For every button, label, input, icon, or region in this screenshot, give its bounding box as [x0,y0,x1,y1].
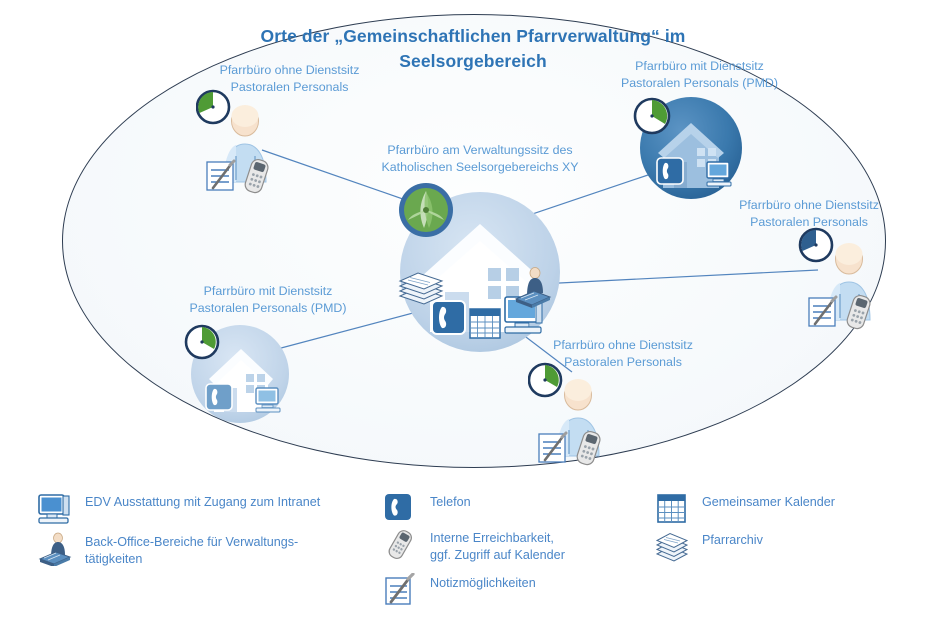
diagram-canvas: Orte der „Gemeinschaftlichen Pfarrverwal… [0,0,946,625]
telephone-icon [206,384,232,410]
legend-item-note: Notizmöglichkeiten [383,573,536,607]
legend-item-computer-label: EDV Ausstattung mit Zugang zum Intranet [85,492,320,511]
legend-item-archive: Pfarrarchiv [655,530,763,564]
note-icon [809,297,836,326]
node-top-right-pmd[interactable] [630,96,750,200]
note-icon [383,573,417,607]
legend-item-archive-label: Pfarrarchiv [702,530,763,549]
legend-item-mobile-phone-label: Interne Erreichbarkeit, ggf. Zugriff auf… [430,528,565,564]
calendar-icon [655,492,689,526]
computer-icon [38,492,72,526]
node-center-admin-label: Pfarrbüro am Verwaltungssitz des Katholi… [352,142,608,175]
legend: EDV Ausstattung mit Zugang zum Intranet … [0,480,946,625]
node-top-right-pmd-label: Pfarrbüro mit Dienstsitz Pastoralen Pers… [592,58,807,91]
legend-item-calendar-label: Gemeinsamer Kalender [702,492,835,511]
clock-green-icon [186,326,218,358]
clock-green-icon [197,91,229,123]
mobile-phone-icon [575,430,601,466]
legend-item-calendar: Gemeinsamer Kalender [655,492,835,526]
note-icon [207,161,234,190]
compass-green-icon [399,183,453,237]
mobile-phone-icon [383,528,417,562]
legend-item-computer: EDV Ausstattung mit Zugang zum Intranet [38,492,320,526]
mobile-phone-icon [845,294,871,330]
node-left-pmd-label: Pfarrbüro mit Dienstsitz Pastoralen Pers… [160,283,376,316]
mobile-phone-icon [243,158,269,194]
legend-item-back-office: Back-Office-Bereiche für Verwaltungs- tä… [38,532,298,568]
node-bottom-person-icons [536,430,612,466]
telephone-icon [383,492,417,526]
computer-icon [256,388,280,412]
back-office-icon [38,532,72,566]
calendar-icon [470,309,500,338]
clock-blue-icon [800,229,832,261]
computer-icon [707,162,731,186]
telephone-icon [432,301,465,334]
legend-item-telephone-label: Telefon [430,492,471,511]
legend-item-telephone: Telefon [383,492,471,526]
legend-item-back-office-label: Back-Office-Bereiche für Verwaltungs- tä… [85,532,298,568]
node-left-pmd[interactable] [182,324,298,424]
clock-green-icon [529,364,561,396]
telephone-icon [657,158,683,184]
archive-icon [655,530,689,564]
legend-item-note-label: Notizmöglichkeiten [430,573,536,592]
node-top-left-person-icons [204,158,280,194]
legend-item-mobile-phone: Interne Erreichbarkeit, ggf. Zugriff auf… [383,528,565,564]
note-icon [539,433,566,462]
node-right-person-icons [806,294,882,330]
clock-green-icon [635,99,669,133]
